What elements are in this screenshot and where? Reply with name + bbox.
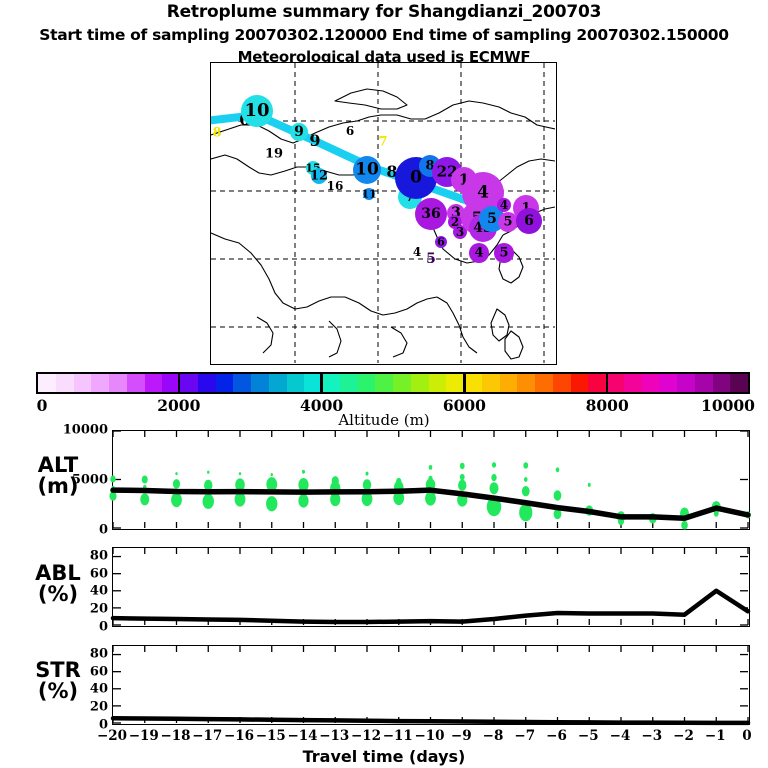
colorbar-swatch-5 (127, 374, 145, 392)
colorbar-swatch-26 (500, 374, 518, 392)
str-plot-area (113, 646, 748, 723)
y-tick-label: 0 (38, 523, 108, 538)
map-marker-label: 7 (378, 136, 387, 149)
y-tick-label: 10000 (38, 423, 108, 438)
y-tick-label: 80 (38, 548, 108, 563)
x-tick-label: −9 (451, 728, 472, 744)
colorbar-swatch-38 (713, 374, 731, 392)
x-tick-label: −6 (546, 728, 567, 744)
colorbar-swatch-33 (624, 374, 642, 392)
map-marker-label: 4 (500, 199, 508, 211)
y-tick-label: 40 (38, 584, 108, 599)
y-tick-label: 40 (38, 682, 108, 697)
colorbar-separator (463, 372, 465, 394)
x-tick-label: 0 (742, 728, 751, 744)
map-marker-label: 36 (421, 207, 440, 221)
alt-chart[interactable] (112, 430, 750, 530)
map-marker-label: 5 (499, 247, 508, 260)
colorbar-swatch-27 (517, 374, 535, 392)
colorbar-swatch-32 (606, 374, 624, 392)
x-tick-label: −16 (224, 728, 254, 744)
x-tick-label: −19 (129, 728, 159, 744)
map-marker-label: 3 (456, 226, 464, 238)
colorbar-swatch-1 (56, 374, 74, 392)
x-tick-label: −1 (705, 728, 726, 744)
y-tick-label: 80 (38, 646, 108, 661)
map-marker-label: 4 (413, 246, 421, 258)
colorbar-swatch-17 (340, 374, 358, 392)
colorbar-swatch-8 (180, 374, 198, 392)
x-tick-label: −5 (578, 728, 599, 744)
map-marker-label: 5 (503, 216, 512, 229)
x-tick-label: −11 (383, 728, 413, 744)
colorbar-swatch-2 (74, 374, 92, 392)
x-tick-label: −17 (192, 728, 222, 744)
y-tick-label: 20 (38, 602, 108, 617)
map-marker-label: 9 (294, 125, 304, 139)
colorbar-swatch-16 (322, 374, 340, 392)
colorbar-swatch-14 (287, 374, 305, 392)
colorbar-swatch-0 (38, 374, 56, 392)
colorbar-swatch-3 (91, 374, 109, 392)
x-tick-label: −10 (414, 728, 444, 744)
x-tick-label: −12 (351, 728, 381, 744)
x-axis-title: Travel time (days) (0, 747, 768, 766)
x-tick-label: −13 (319, 728, 349, 744)
map-marker-label: 12 (310, 170, 328, 183)
colorbar-swatch-31 (588, 374, 606, 392)
colorbar-swatch-10 (216, 374, 234, 392)
page-title: Retroplume summary for Shangdianzi_20070… (0, 2, 768, 22)
colorbar-swatch-39 (730, 374, 748, 392)
y-tick-label: 0 (38, 620, 108, 635)
map-marker-label: 4 (477, 185, 489, 202)
abl-chart[interactable] (112, 547, 750, 627)
colorbar-title: Altitude (m) (0, 411, 768, 429)
abl-plot-area (113, 548, 748, 625)
x-tick-label: −8 (483, 728, 504, 744)
map-marker-label: 6 (437, 237, 445, 248)
colorbar-swatch-36 (677, 374, 695, 392)
colorbar-swatch-22 (429, 374, 447, 392)
colorbar-separator (606, 372, 608, 394)
colorbar-swatch-18 (358, 374, 376, 392)
colorbar-separator (320, 372, 322, 394)
colorbar-swatch-30 (571, 374, 589, 392)
x-tick-label: −3 (641, 728, 662, 744)
colorbar-swatch-34 (642, 374, 660, 392)
retroplume-map[interactable]: 0108991967151216108117082214363235435451… (210, 62, 557, 365)
map-marker-label: 8 (212, 127, 221, 140)
map-marker-label: 10 (355, 162, 379, 179)
colorbar-swatch-35 (659, 374, 677, 392)
x-tick-label: −18 (160, 728, 190, 744)
colorbar-swatch-12 (251, 374, 269, 392)
sampling-times: Start time of sampling 20070302.120000 E… (0, 26, 768, 44)
map-marker-label: 6 (346, 125, 354, 137)
colorbar-swatch-9 (198, 374, 216, 392)
map-marker-label: 5 (426, 252, 436, 266)
map-marker-label: 5 (487, 212, 497, 226)
map-marker-label: 10 (244, 102, 269, 120)
colorbar-swatch-11 (233, 374, 251, 392)
map-marker-label: 11 (361, 189, 376, 200)
altitude-colorbar (36, 372, 750, 394)
x-tick-label: −20 (97, 728, 127, 744)
colorbar-swatch-6 (145, 374, 163, 392)
colorbar-swatch-28 (535, 374, 553, 392)
x-tick-label: −14 (287, 728, 317, 744)
colorbar-separator (178, 372, 180, 394)
y-tick-label: 20 (38, 700, 108, 715)
colorbar-swatch-20 (393, 374, 411, 392)
y-tick-label: 60 (38, 664, 108, 679)
map-marker-label: 16 (327, 180, 344, 192)
alt-plot-area (113, 431, 748, 528)
colorbar-swatch-23 (446, 374, 464, 392)
colorbar-swatch-13 (269, 374, 287, 392)
colorbar-swatch-29 (553, 374, 571, 392)
colorbar-swatch-25 (482, 374, 500, 392)
map-marker-label: 19 (265, 148, 283, 161)
colorbar-swatch-15 (304, 374, 322, 392)
x-tick-label: −4 (610, 728, 631, 744)
map-marker-label: 9 (309, 133, 320, 149)
map-marker-label: 4 (474, 247, 483, 260)
str-chart[interactable] (112, 645, 750, 725)
x-axis-tick-labels: −20−19−18−17−16−15−14−13−12−11−10−9−8−7−… (0, 728, 768, 746)
colorbar-swatch-4 (109, 374, 127, 392)
x-tick-label: −7 (514, 728, 535, 744)
colorbar-swatch-21 (411, 374, 429, 392)
colorbar-swatch-19 (375, 374, 393, 392)
y-tick-label: 5000 (38, 473, 108, 488)
colorbar-swatch-37 (695, 374, 713, 392)
y-tick-label: 60 (38, 566, 108, 581)
x-tick-label: −15 (256, 728, 286, 744)
x-tick-label: −2 (673, 728, 694, 744)
colorbar-swatch-24 (464, 374, 482, 392)
map-marker-label: 6 (524, 214, 534, 228)
